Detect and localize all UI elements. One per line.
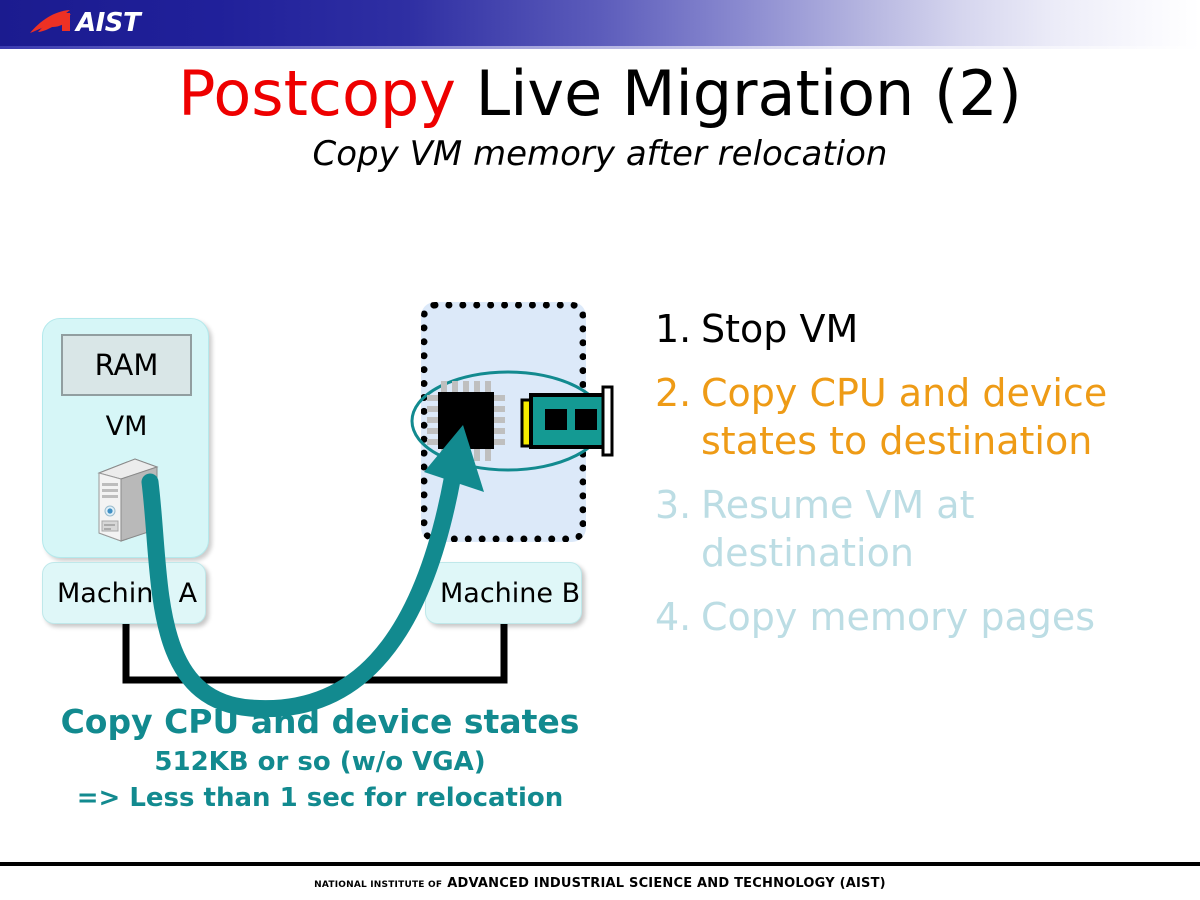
step-item-3: 3. Resume VM at destination	[655, 481, 1165, 577]
footer: NATIONAL INSTITUTE OF ADVANCED INDUSTRIA…	[0, 872, 1200, 891]
page-title: Postcopy Live Migration (2)	[0, 58, 1200, 130]
step-text-3: Resume VM at destination	[701, 481, 1165, 577]
caption-line-2: 512KB or so (w/o VGA)	[0, 744, 640, 780]
step-number-2: 2.	[655, 369, 701, 417]
caption-line-1: Copy CPU and device states	[0, 700, 640, 744]
page-subtitle: Copy VM memory after relocation	[0, 132, 1200, 176]
title-block: Postcopy Live Migration (2) Copy VM memo…	[0, 58, 1200, 176]
footer-small-text: NATIONAL INSTITUTE OF	[314, 880, 442, 890]
step-number-3: 3.	[655, 481, 701, 529]
footer-divider	[0, 862, 1200, 866]
page-title-highlight: Postcopy	[178, 57, 456, 130]
step-text-4: Copy memory pages	[701, 593, 1165, 641]
step-number-4: 4.	[655, 593, 701, 641]
step-item-4: 4. Copy memory pages	[655, 593, 1165, 641]
header-bar	[0, 0, 1200, 46]
step-item-1: 1. Stop VM	[655, 305, 1165, 353]
footer-large-text: ADVANCED INDUSTRIAL SCIENCE AND TECHNOLO…	[447, 876, 886, 891]
step-list: 1. Stop VM 2. Copy CPU and device states…	[655, 305, 1165, 657]
step-text-2: Copy CPU and device states to destinatio…	[701, 369, 1165, 465]
step-item-2: 2. Copy CPU and device states to destina…	[655, 369, 1165, 465]
aist-logo: AIST	[28, 6, 168, 40]
caption-line-3: => Less than 1 sec for relocation	[0, 780, 640, 816]
page-title-rest: Live Migration (2)	[456, 57, 1022, 130]
step-number-1: 1.	[655, 305, 701, 353]
step-text-1: Stop VM	[701, 305, 1165, 353]
aist-logo-text: AIST	[76, 8, 140, 38]
header-underline	[0, 46, 1200, 49]
diagram-caption: Copy CPU and device states 512KB or so (…	[0, 700, 640, 816]
aist-swoosh-icon	[28, 6, 76, 38]
